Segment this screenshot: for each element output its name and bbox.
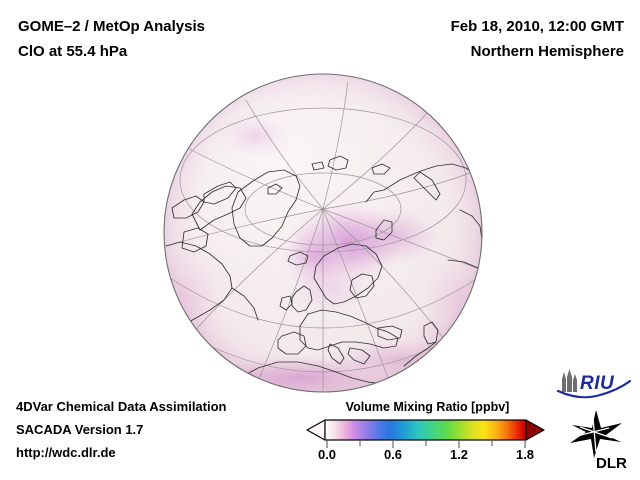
riu-tower-icon bbox=[562, 369, 577, 392]
globe-panel bbox=[0, 60, 640, 405]
colorbar-tick-labels: 0.0 0.6 1.2 1.8 bbox=[305, 447, 550, 467]
header-left: GOME–2 / MetOp Analysis ClO at 55.4 hPa bbox=[18, 14, 318, 64]
colorbar-gradient bbox=[325, 420, 526, 440]
colorbar: Volume Mixing Ratio [ppbv] bbox=[305, 400, 550, 472]
colorbar-tick-label-0: 0.0 bbox=[318, 447, 336, 462]
colorbar-tick-label-2: 1.2 bbox=[450, 447, 468, 462]
colorbar-right-arrow bbox=[526, 420, 544, 440]
colorbar-title: Volume Mixing Ratio [ppbv] bbox=[305, 400, 550, 414]
colorbar-tick-label-3: 1.8 bbox=[516, 447, 534, 462]
clo-concentration-field bbox=[137, 74, 502, 402]
header-right: Feb 18, 2010, 12:00 GMT Northern Hemisph… bbox=[304, 14, 624, 64]
colorbar-left-arrow bbox=[307, 420, 325, 440]
colorbar-tick-label-1: 0.6 bbox=[384, 447, 402, 462]
website-url[interactable]: http://wdc.dlr.de bbox=[16, 441, 316, 464]
analysis-title: GOME–2 / MetOp Analysis bbox=[18, 14, 318, 39]
dlr-wordmark: DLR bbox=[596, 455, 627, 470]
timestamp-label: Feb 18, 2010, 12:00 GMT bbox=[304, 14, 624, 39]
riu-logo: RIU bbox=[556, 368, 632, 402]
globe-map bbox=[0, 60, 640, 405]
colorbar-scale bbox=[305, 419, 550, 449]
method-label: 4DVar Chemical Data Assimilation bbox=[16, 395, 316, 418]
dlr-logo: DLR bbox=[560, 408, 632, 470]
version-label: SACADA Version 1.7 bbox=[16, 418, 316, 441]
coastline-arabia bbox=[420, 352, 456, 380]
footer-left: 4DVar Chemical Data Assimilation SACADA … bbox=[16, 395, 316, 464]
